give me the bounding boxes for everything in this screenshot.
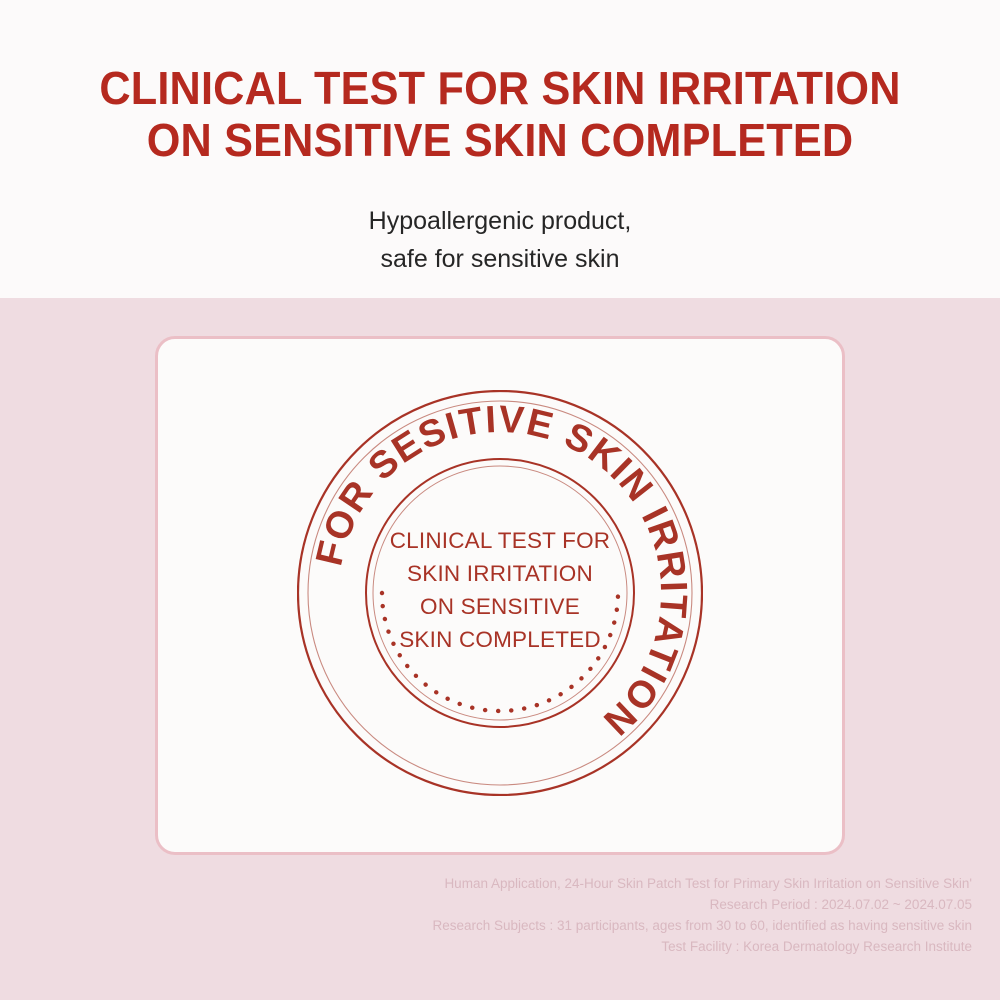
page-title: CLINICAL TEST FOR SKIN IRRITATION ON SEN…	[30, 62, 970, 166]
certification-seal: TESTED FOR SESITIVE SKIN IRRITATION CLIN…	[297, 390, 703, 796]
seal-center-line-4: SKIN COMPLETED	[399, 623, 601, 656]
disclaimer-line-2: Research Period : 2024.07.02 ~ 2024.07.0…	[0, 894, 972, 915]
seal-center-line-3: ON SENSITIVE	[420, 590, 580, 623]
study-disclaimer: Human Application, 24-Hour Skin Patch Te…	[0, 873, 972, 957]
page-subtitle: Hypoallergenic product, safe for sensiti…	[0, 202, 1000, 278]
seal-center-text: CLINICAL TEST FOR SKIN IRRITATION ON SEN…	[297, 390, 703, 796]
disclaimer-line-3: Research Subjects : 31 participants, age…	[0, 915, 972, 936]
seal-center-line-1: CLINICAL TEST FOR	[390, 524, 611, 557]
promo-page: CLINICAL TEST FOR SKIN IRRITATION ON SEN…	[0, 0, 1000, 1000]
disclaimer-line-4: Test Facility : Korea Dermatology Resear…	[0, 936, 972, 957]
seal-center-line-2: SKIN IRRITATION	[407, 557, 593, 590]
disclaimer-line-1: Human Application, 24-Hour Skin Patch Te…	[0, 873, 972, 894]
